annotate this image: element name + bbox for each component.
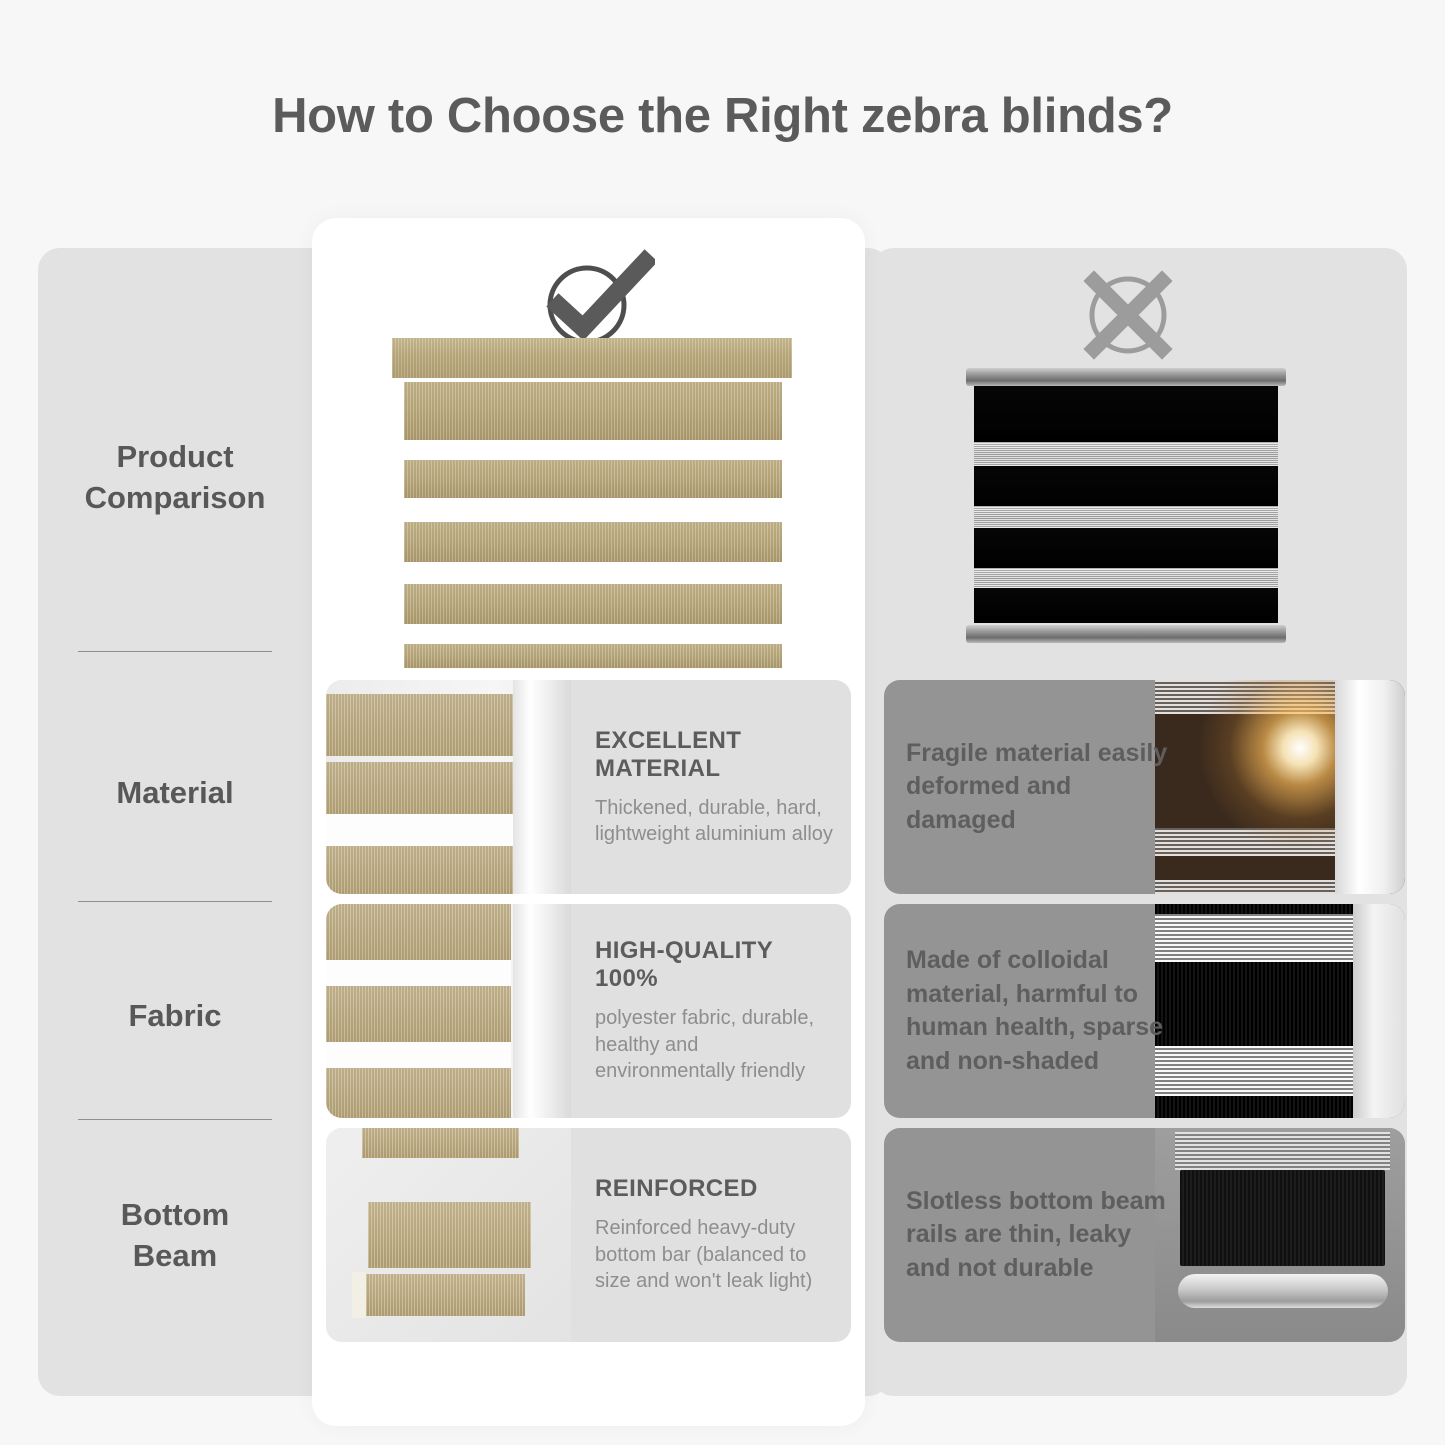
good-card-bottom-beam-text: REINFORCED Reinforced heavy-duty bottom … — [571, 1128, 833, 1342]
bad-card-fabric: Made of colloidal material, harmful to h… — [884, 904, 1405, 1118]
black-blind-sheer-band — [974, 442, 1278, 466]
good-card-bottom-beam-heading: REINFORCED — [595, 1175, 833, 1203]
row-label-product-comparison-line2: Comparison — [85, 480, 266, 515]
check-circle-icon — [535, 248, 655, 348]
row-label-column: Product Comparison Material Fabric Botto… — [38, 248, 312, 1396]
tan-blind-fabric-closeup-photo — [326, 904, 571, 1118]
good-card-bottom-beam-body: Reinforced heavy-duty bottom bar (balanc… — [595, 1215, 833, 1294]
good-card-material-heading: EXCELLENT MATERIAL — [595, 727, 833, 783]
good-card-material: EXCELLENT MATERIAL Thickened, durable, h… — [326, 680, 851, 894]
black-blind-headrail — [966, 368, 1286, 386]
good-hero-product-image — [382, 338, 800, 668]
cross-circle-icon — [1078, 265, 1178, 365]
row-label-bottom-beam-line1: Bottom — [121, 1197, 229, 1232]
row-label-bottom-beam-line2: Beam — [133, 1238, 217, 1273]
page-title: How to Choose the Right zebra blinds? — [0, 88, 1445, 144]
row-label-bottom-beam: Bottom Beam — [38, 1195, 312, 1277]
black-blind-dark-band — [974, 386, 1278, 442]
row-divider-1 — [78, 651, 272, 652]
sun-glare-through-window-gap-photo — [1155, 680, 1405, 894]
bad-card-bottom-beam: Slotless bottom beam rails are thin, lea… — [884, 1128, 1405, 1342]
tan-blind-slat — [404, 584, 782, 624]
bad-card-bottom-beam-text: Slotless bottom beam rails are thin, lea… — [906, 1128, 1181, 1342]
row-label-product-comparison-line1: Product — [116, 439, 233, 474]
tan-blind-slat — [404, 522, 782, 562]
sparse-black-sheer-fabric-photo — [1155, 904, 1405, 1118]
good-card-material-text: EXCELLENT MATERIAL Thickened, durable, h… — [571, 680, 833, 894]
bad-card-fabric-text: Made of colloidal material, harmful to h… — [906, 904, 1181, 1118]
good-card-fabric-heading: HIGH-QUALITY 100% — [595, 937, 833, 993]
bad-card-material: Fragile material easily deformed and dam… — [884, 680, 1405, 894]
bad-card-material-text: Fragile material easily deformed and dam… — [906, 680, 1181, 894]
row-divider-2 — [78, 901, 272, 902]
good-card-fabric: HIGH-QUALITY 100% polyester fabric, dura… — [326, 904, 851, 1118]
row-label-material: Material — [38, 773, 312, 814]
good-card-fabric-text: HIGH-QUALITY 100% polyester fabric, dura… — [571, 904, 833, 1118]
tan-blind-slat — [404, 460, 782, 498]
tan-blind-window-frame-closeup-photo — [326, 680, 571, 894]
tan-blind-headrail — [392, 338, 792, 378]
thin-silver-bottom-rail-photo — [1155, 1128, 1405, 1342]
good-card-material-body: Thickened, durable, hard, lightweight al… — [595, 795, 833, 848]
row-label-fabric: Fabric — [38, 996, 312, 1037]
black-blind-dark-band — [974, 466, 1278, 506]
row-label-product-comparison: Product Comparison — [38, 437, 312, 519]
row-divider-3 — [78, 1119, 272, 1120]
black-blind-bottom-rail — [966, 625, 1286, 643]
black-blind-sheer-band — [974, 506, 1278, 528]
black-blind-dark-band — [974, 528, 1278, 568]
tan-blind-bottom-bar — [404, 644, 782, 668]
black-blind-sheer-band — [974, 568, 1278, 588]
black-blind-dark-band — [974, 588, 1278, 623]
good-card-fabric-body: polyester fabric, durable, healthy and e… — [595, 1005, 833, 1084]
bad-hero-product-image — [966, 368, 1286, 643]
tan-blind-slat — [404, 382, 782, 440]
good-card-bottom-beam: REINFORCED Reinforced heavy-duty bottom … — [326, 1128, 851, 1342]
tan-reinforced-bottom-bar-photo — [326, 1128, 571, 1342]
